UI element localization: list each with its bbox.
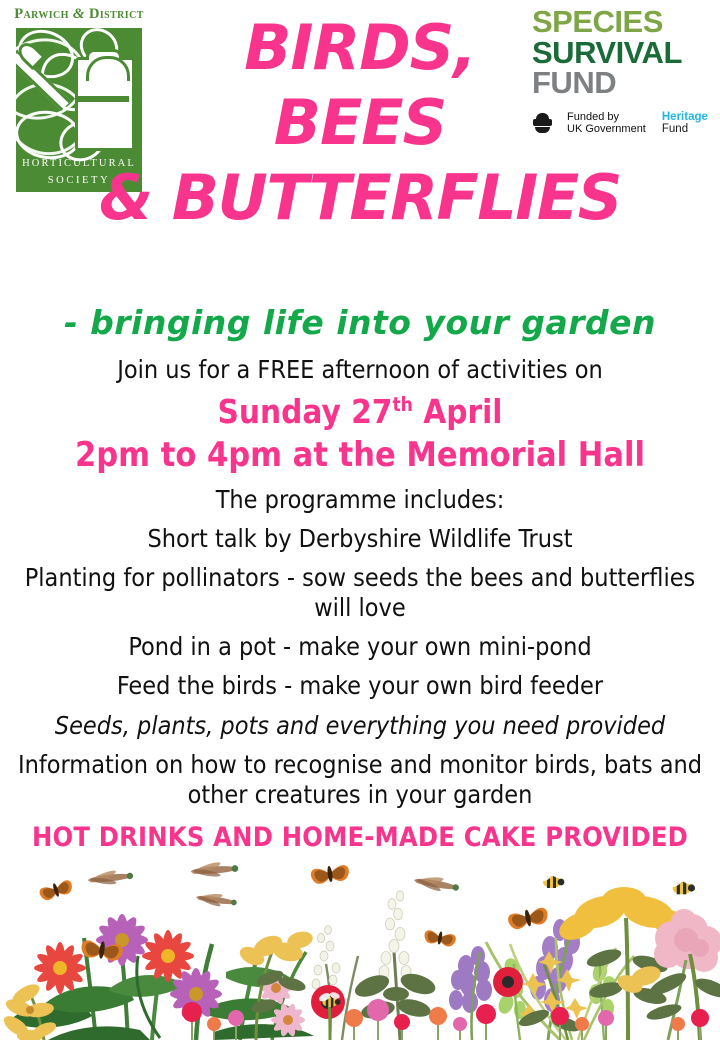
programme-item: Pond in a pot - make your own mini-pond bbox=[15, 632, 705, 662]
insect-butterfly bbox=[310, 863, 350, 885]
information-note: Information on how to recognise and moni… bbox=[15, 750, 705, 810]
programme-item: Feed the birds - make your own bird feed… bbox=[15, 671, 705, 701]
event-date: Sunday 27th April bbox=[15, 392, 705, 432]
headline-line-3: & BUTTERFLIES bbox=[0, 168, 720, 229]
insect-butterfly bbox=[423, 929, 456, 948]
wildflower-svg bbox=[0, 860, 720, 1040]
refreshments-banner: HOT DRINKS AND HOME-MADE CAKE PROVIDED bbox=[15, 823, 705, 853]
poster-body: Join us for a FREE afternoon of activiti… bbox=[0, 355, 720, 857]
insect-bee bbox=[667, 874, 695, 894]
insect-butterfly bbox=[507, 906, 550, 931]
intro-line: Join us for a FREE afternoon of activiti… bbox=[15, 355, 705, 385]
event-date-month: April bbox=[413, 392, 503, 431]
event-date-ordinal: th bbox=[392, 393, 412, 416]
programme-item: Short talk by Derbyshire Wildlife Trust bbox=[15, 524, 705, 554]
programme-heading: The programme includes: bbox=[15, 485, 705, 515]
provisions-note: Seeds, plants, pots and everything you n… bbox=[15, 711, 705, 741]
programme-item: Planting for pollinators - sow seeds the… bbox=[15, 563, 705, 623]
insect-dragonfly bbox=[87, 867, 134, 889]
insect-dragonfly bbox=[190, 860, 239, 880]
event-time-venue: 2pm to 4pm at the Memorial Hall bbox=[15, 435, 705, 475]
poster-headline: BIRDS, BEES & BUTTERFLIES bbox=[0, 18, 720, 228]
insect-butterfly bbox=[38, 878, 74, 902]
wildflower-illustration bbox=[0, 860, 720, 1040]
poster-canvas: Parwich & District HORTICULTURAL bbox=[0, 0, 720, 1040]
insect-bee bbox=[538, 869, 565, 888]
event-date-day: Sunday 27 bbox=[218, 392, 393, 431]
poster-subtitle: - bringing life into your garden bbox=[0, 303, 720, 342]
insect-dragonfly bbox=[195, 889, 237, 910]
insect-dragonfly bbox=[413, 871, 460, 896]
headline-line-1: BIRDS, bbox=[0, 18, 720, 79]
headline-line-2: BEES bbox=[0, 93, 720, 154]
